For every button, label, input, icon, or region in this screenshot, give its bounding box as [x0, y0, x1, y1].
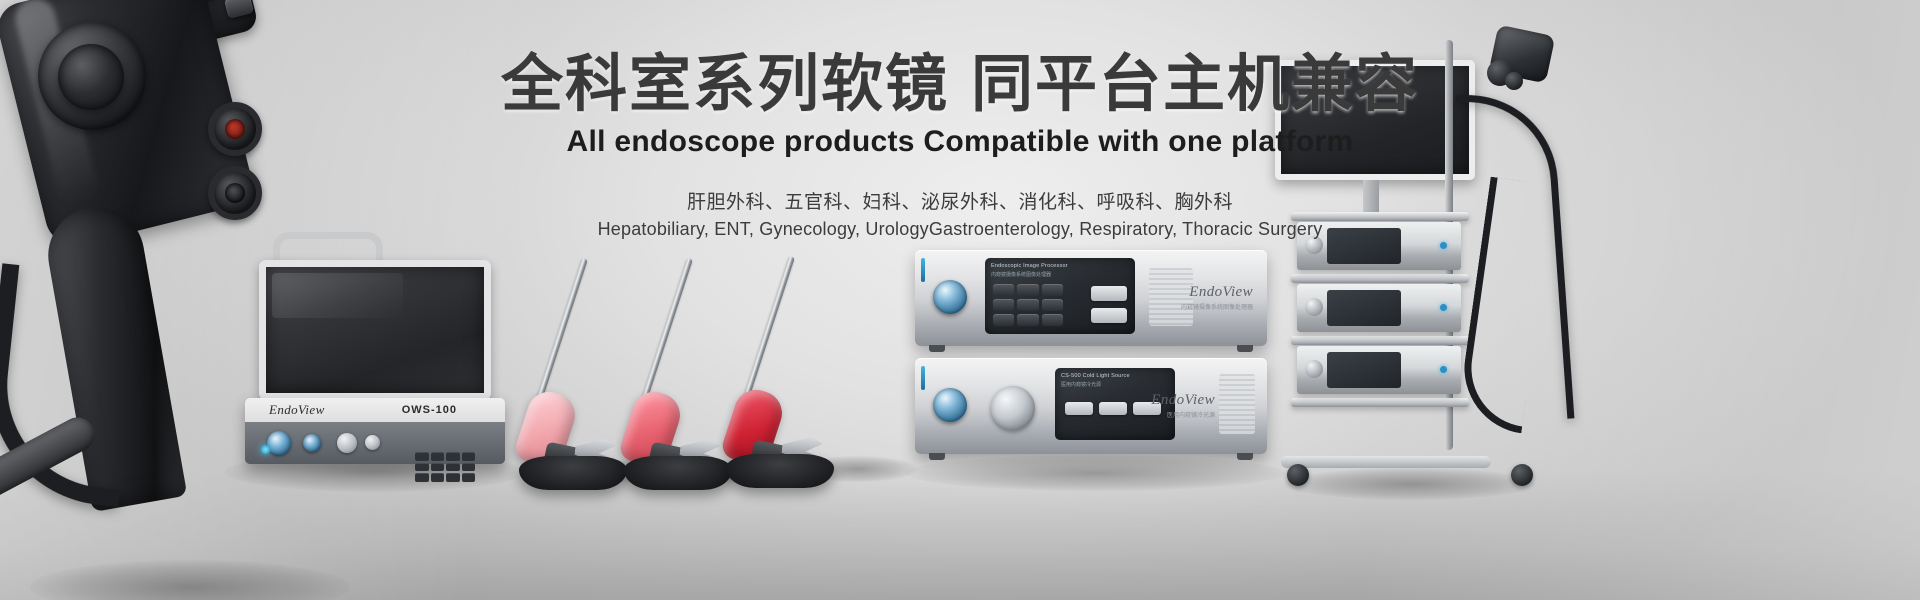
light-source-button-standby: [1099, 402, 1127, 415]
image-processor-foot-right: [1237, 345, 1253, 352]
image-processor-keypad: [993, 284, 1063, 326]
workstation-port-1: [267, 431, 291, 455]
image-processor-foot-left: [929, 345, 945, 352]
cart-caster-left: [1287, 464, 1309, 486]
cart-unit-2: [1297, 284, 1461, 332]
image-processor-brand: EndoView: [1189, 284, 1253, 301]
cart-shelf-2: [1291, 274, 1469, 283]
image-processor-title-cn: 内窥镜摄像系统图像处理器: [991, 271, 1051, 278]
endoscopy-product-banner: 全科室系列软镜同平台主机兼容 All endoscope products Co…: [0, 0, 1920, 600]
image-processor-scope-port: [933, 280, 967, 314]
light-source-unit: CS-500 Cold Light Source 医用内窥镜冷光源 EndoVi…: [915, 358, 1267, 454]
workstation-knob-2: [365, 435, 380, 450]
image-processor-brand-sub: 内窥镜摄像系统图像处理器: [1181, 302, 1253, 311]
workstation-knob-1: [337, 433, 357, 453]
light-source-fiber-port: [933, 388, 967, 422]
cart-shelf-4: [1291, 398, 1469, 407]
specialties-cn: 肝胆外科、五官科、妇科、泌尿外科、消化科、呼吸科、胸外科: [0, 187, 1920, 214]
headline-part-1: 全科室系列软镜: [501, 50, 949, 119]
rigid-instrument-3: [712, 248, 862, 498]
cart-shelf-3: [1291, 336, 1469, 345]
image-processor-vent: [1149, 268, 1193, 326]
light-source-vent: [1219, 374, 1255, 434]
cart-caster-right: [1511, 464, 1533, 486]
cart-unit-2-panel: [1327, 290, 1401, 326]
image-processor-face: Endoscopic Image Processor 内窥镜摄像系统图像处理器 …: [915, 250, 1267, 346]
cart-unit-3-panel: [1327, 352, 1401, 388]
image-processor-indicator-bar: [921, 258, 925, 282]
cart-unit-3-led: [1440, 366, 1447, 373]
cart-shelving: [1291, 212, 1471, 450]
image-processor-unit: Endoscopic Image Processor 内窥镜摄像系统图像处理器 …: [915, 250, 1267, 346]
light-source-indicator-bar: [921, 366, 925, 390]
light-source-face: CS-500 Cold Light Source 医用内窥镜冷光源 EndoVi…: [915, 358, 1267, 454]
image-processor-title-en: Endoscopic Image Processor: [991, 263, 1068, 269]
workstation-port-2: [303, 434, 321, 452]
processor-stack: Endoscopic Image Processor 内窥镜摄像系统图像处理器 …: [915, 250, 1275, 465]
light-source-foot-right: [1237, 453, 1253, 460]
banner-text-block: 全科室系列软镜同平台主机兼容 All endoscope products Co…: [0, 52, 1920, 240]
light-source-title-en: CS-500 Cold Light Source: [1061, 373, 1130, 379]
workstation-power-led: [261, 445, 270, 454]
light-source-brand: EndoView: [1151, 392, 1215, 409]
instrument-3-stand: [726, 454, 834, 488]
light-source-title-cn: 医用内窥镜冷光源: [1061, 381, 1101, 388]
workstation-base: EndoView OWS-100: [245, 398, 505, 464]
specialties-en: Hepatobiliary, ENT, Gynecology, UrologyG…: [0, 219, 1920, 240]
cart-unit-1-led: [1440, 242, 1447, 249]
subheadline: All endoscope products Compatible with o…: [0, 125, 1920, 159]
workstation-screen: [259, 260, 491, 400]
headline-part-2: 同平台主机兼容: [971, 50, 1419, 119]
workstation-control-strip: [245, 422, 505, 464]
image-processor-control-panel: Endoscopic Image Processor 内窥镜摄像系统图像处理器: [985, 258, 1135, 334]
light-source-brand-sub: 医用内窥镜冷光源: [1167, 410, 1215, 419]
light-source-button-brightness: [1065, 402, 1093, 415]
workstation-keypad: [415, 452, 475, 482]
workstation-model: OWS-100: [402, 404, 457, 416]
light-source-brightness-knob: [991, 386, 1035, 430]
cart-unit-2-led: [1440, 304, 1447, 311]
light-source-foot-left: [929, 453, 945, 460]
cart-unit-3: [1297, 346, 1461, 394]
image-processor-freeze-button: [1091, 308, 1127, 323]
image-processor-white-balance-button: [1091, 286, 1127, 301]
ows-workstation: EndoView OWS-100: [235, 240, 515, 470]
headline: 全科室系列软镜同平台主机兼容: [0, 52, 1920, 119]
cart-unit-3-knob: [1305, 360, 1323, 378]
workstation-brand: EndoView: [269, 402, 325, 418]
cart-unit-2-knob: [1305, 298, 1323, 316]
